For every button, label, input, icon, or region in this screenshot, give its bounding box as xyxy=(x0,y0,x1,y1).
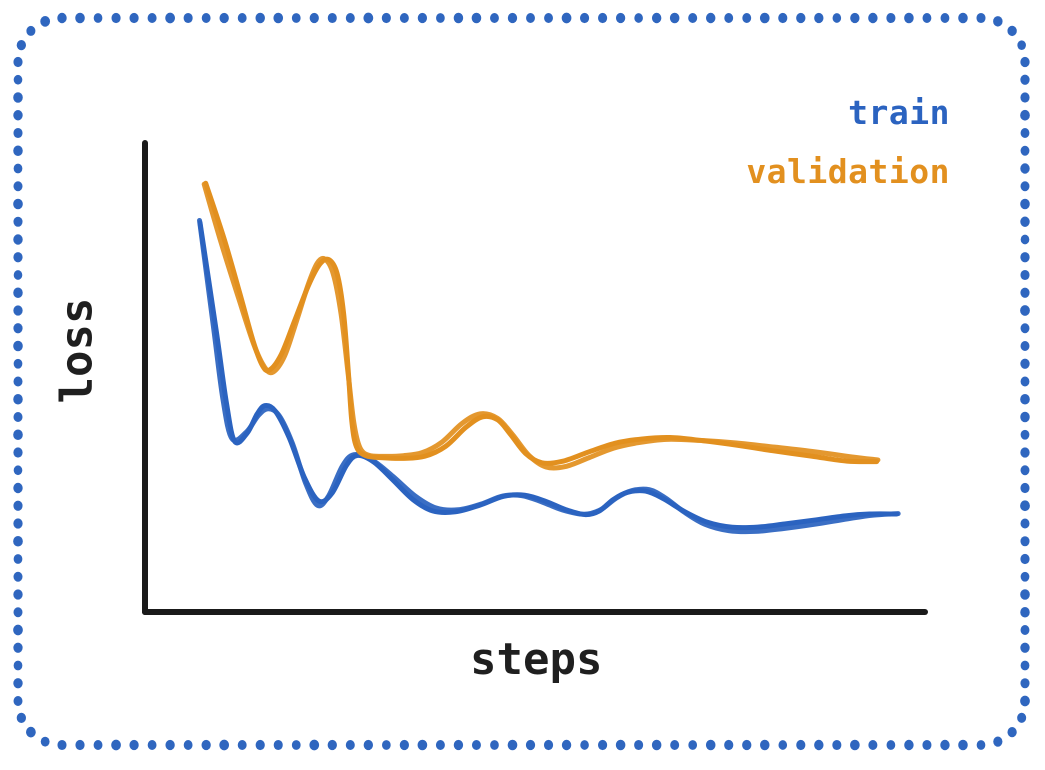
series-line-validation xyxy=(204,184,878,468)
chart-axes xyxy=(145,143,925,612)
y-axis-label: loss xyxy=(52,271,103,431)
legend-item-train: train xyxy=(848,93,950,132)
series-line-validation xyxy=(206,183,877,463)
figure-canvas: loss steps train validation xyxy=(0,0,1045,770)
x-axis-label: steps xyxy=(470,634,602,685)
series-lines xyxy=(200,183,899,531)
series-line-train xyxy=(200,220,899,531)
legend-item-validation: validation xyxy=(746,152,950,191)
